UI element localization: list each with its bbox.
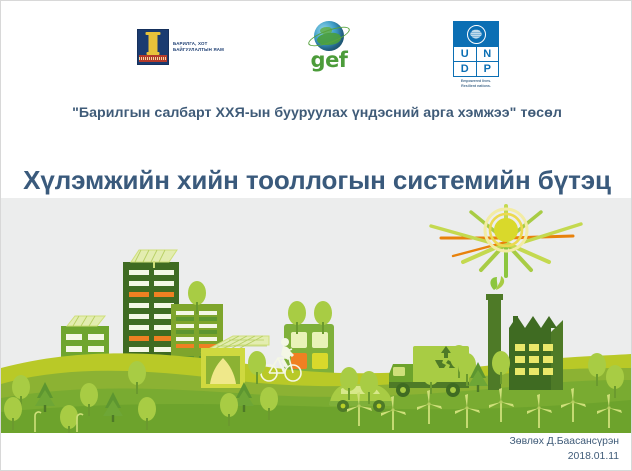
undp-tagline: Empowered lives. Resilient nations. [448, 79, 504, 90]
undp-letter-u: U [454, 47, 477, 61]
presentation-slide: БАРИЛГА, ХОТ БАЙГУУЛАЛТЫН ЯАМ gef U N [0, 0, 632, 471]
page-title: Хүлэмжийн хийн тооллогын системийн бүтэц [1, 165, 632, 196]
undp-letter-n: N [477, 47, 499, 61]
ministry-logo-text: БАРИЛГА, ХОТ БАЙГУУЛАЛТЫН ЯАМ [173, 41, 224, 54]
gef-logo: gef [301, 21, 357, 71]
footer-author: Зөвлөх Д.Баасансүрэн [510, 434, 619, 449]
undp-logo: U N D P Empowered lives. Resilient natio… [448, 21, 504, 90]
footer-date: 2018.01.11 [510, 449, 619, 464]
ministry-of-construction-logo: БАРИЛГА, ХОТ БАЙГУУЛАЛТЫН ЯАМ [137, 29, 224, 65]
undp-letter-p: P [477, 62, 499, 76]
ministry-emblem-icon [137, 29, 169, 65]
slide-footer: Зөвлөх Д.Баасансүрэн 2018.01.11 [510, 434, 619, 464]
undp-letter-d: D [454, 62, 477, 76]
logo-strip: БАРИЛГА, ХОТ БАЙГУУЛАЛТЫН ЯАМ gef U N [1, 17, 632, 77]
gef-wordmark: gef [301, 50, 357, 71]
eco-city-illustration [1, 198, 631, 433]
gef-globe-icon [314, 21, 344, 51]
un-emblem-icon [454, 22, 498, 46]
project-subtitle: "Барилгын салбарт ХХЯ-ын бууруулах үндэс… [1, 105, 632, 121]
ministry-logo-line2: БАЙГУУЛАЛТЫН ЯАМ [173, 47, 224, 53]
undp-tagline-line2: Resilient nations. [448, 84, 504, 89]
